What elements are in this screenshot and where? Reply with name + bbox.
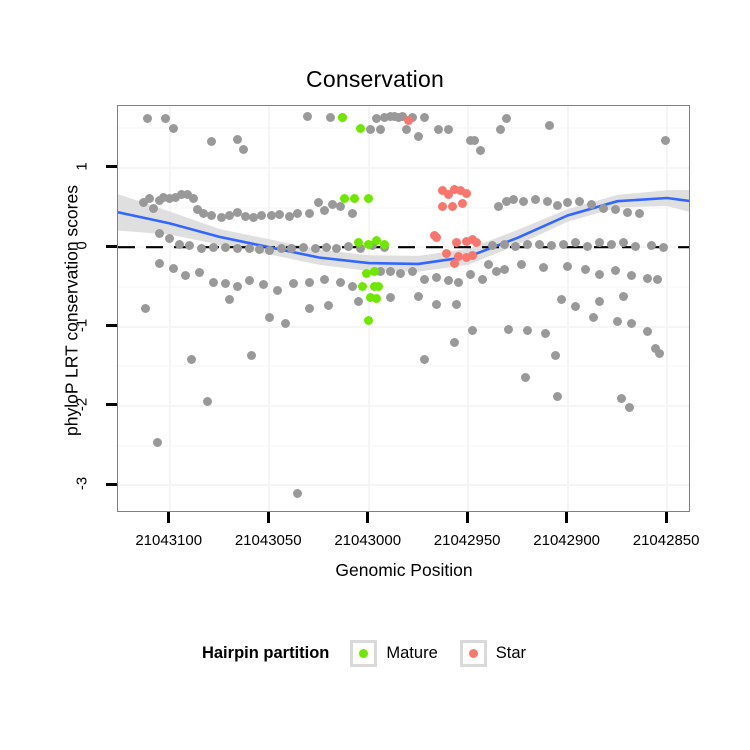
data-point-unassigned <box>175 240 184 249</box>
data-point-unassigned <box>539 263 548 272</box>
data-point-unassigned <box>488 241 497 250</box>
data-point-unassigned <box>551 351 560 360</box>
data-point-unassigned <box>277 244 286 253</box>
data-point-unassigned <box>653 275 662 284</box>
data-point-unassigned <box>434 125 443 134</box>
data-point-unassigned <box>305 278 314 287</box>
data-point-unassigned <box>221 243 230 252</box>
data-point-mature <box>374 282 383 291</box>
data-point-unassigned <box>587 200 596 209</box>
data-point-unassigned <box>643 327 652 336</box>
data-point-unassigned <box>500 265 509 274</box>
data-point-mature <box>372 294 381 303</box>
x-axis-tick <box>167 512 170 523</box>
x-axis-tick-label: 21043100 <box>114 532 224 549</box>
legend-key-mature[interactable] <box>350 640 377 667</box>
x-axis-tick <box>366 512 369 523</box>
data-point-unassigned <box>607 240 616 249</box>
data-point-unassigned <box>523 240 532 249</box>
x-axis-tick <box>466 512 469 523</box>
data-point-unassigned <box>169 124 178 133</box>
data-point-unassigned <box>611 266 620 275</box>
chart-title: Conservation <box>0 66 750 93</box>
x-axis-tick-label: 21043050 <box>213 532 323 549</box>
x-axis-tick <box>665 512 668 523</box>
chart-root: Conservation phyloP LRT conservation sco… <box>0 0 750 750</box>
data-point-unassigned <box>611 205 620 214</box>
data-point-unassigned <box>320 275 329 284</box>
data-point-unassigned <box>414 292 423 301</box>
data-point-unassigned <box>257 211 266 220</box>
data-point-unassigned <box>643 274 652 283</box>
x-axis-title: Genomic Position <box>117 560 691 581</box>
plot-area <box>118 106 689 511</box>
legend-label-mature: Mature <box>386 644 437 663</box>
data-point-unassigned <box>655 349 664 358</box>
data-point-unassigned <box>659 243 668 252</box>
data-point-unassigned <box>396 269 405 278</box>
trend-overlay <box>118 106 689 511</box>
legend-title: Hairpin partition <box>202 644 329 663</box>
y-axis-tick-label: 1 <box>74 146 91 186</box>
data-point-unassigned <box>209 243 218 252</box>
data-point-star <box>432 233 441 242</box>
data-point-star <box>448 202 457 211</box>
confidence-band <box>118 190 689 272</box>
y-axis-tick-label: -1 <box>74 305 91 345</box>
data-point-unassigned <box>452 300 461 309</box>
legend-key-star[interactable] <box>460 640 487 667</box>
data-point-unassigned <box>414 132 423 141</box>
data-point-unassigned <box>289 279 298 288</box>
data-point-unassigned <box>287 244 296 253</box>
data-point-unassigned <box>239 145 248 154</box>
data-point-unassigned <box>366 125 375 134</box>
data-point-unassigned <box>432 273 441 282</box>
data-point-unassigned <box>402 125 411 134</box>
data-point-unassigned <box>444 125 453 134</box>
data-point-unassigned <box>468 326 477 335</box>
data-point-unassigned <box>444 276 453 285</box>
data-point-unassigned <box>386 293 395 302</box>
data-point-unassigned <box>311 244 320 253</box>
data-point-unassigned <box>599 204 608 213</box>
data-point-unassigned <box>545 121 554 130</box>
data-point-unassigned <box>209 278 218 287</box>
data-point-unassigned <box>553 201 562 210</box>
data-point-unassigned <box>625 403 634 412</box>
data-point-unassigned <box>450 338 459 347</box>
data-point-star <box>452 238 461 247</box>
y-axis-tick-label: -2 <box>74 384 91 424</box>
x-axis-tick <box>267 512 270 523</box>
data-point-unassigned <box>305 304 314 313</box>
data-point-mature <box>364 194 373 203</box>
data-point-unassigned <box>478 275 487 284</box>
data-point-unassigned <box>595 297 604 306</box>
data-point-unassigned <box>470 136 479 145</box>
data-point-unassigned <box>273 286 282 295</box>
legend-dot-mature <box>359 649 368 658</box>
data-point-unassigned <box>420 275 429 284</box>
x-axis-tick-label: 21043000 <box>313 532 423 549</box>
data-point-unassigned <box>293 209 302 218</box>
data-point-mature <box>358 282 367 291</box>
data-point-unassigned <box>543 197 552 206</box>
data-point-mature <box>364 316 373 325</box>
data-point-unassigned <box>454 278 463 287</box>
x-axis-tick-label: 21042850 <box>611 532 721 549</box>
y-axis-tick <box>106 245 117 248</box>
data-point-star <box>468 251 477 260</box>
legend-label-star: Star <box>496 644 526 663</box>
data-point-unassigned <box>623 208 632 217</box>
data-point-unassigned <box>225 295 234 304</box>
data-point-unassigned <box>207 211 216 220</box>
data-point-unassigned <box>647 241 656 250</box>
data-point-unassigned <box>197 244 206 253</box>
y-axis-tick <box>106 403 117 406</box>
data-point-unassigned <box>631 242 640 251</box>
data-point-unassigned <box>275 210 284 219</box>
data-point-unassigned <box>581 265 590 274</box>
data-point-star <box>462 189 471 198</box>
x-axis-tick-label: 21042950 <box>412 532 522 549</box>
legend: Hairpin partition Mature Star <box>0 640 750 667</box>
data-point-unassigned <box>613 317 622 326</box>
data-point-star <box>404 116 413 125</box>
data-point-unassigned <box>203 397 212 406</box>
data-point-unassigned <box>299 243 308 252</box>
data-point-unassigned <box>502 114 511 123</box>
data-point-unassigned <box>583 242 592 251</box>
data-point-unassigned <box>466 270 475 279</box>
data-point-unassigned <box>595 238 604 247</box>
data-point-unassigned <box>661 136 670 145</box>
data-point-unassigned <box>245 244 254 253</box>
data-point-unassigned <box>504 325 513 334</box>
y-axis-tick-label: -3 <box>74 464 91 504</box>
data-point-unassigned <box>563 262 572 271</box>
plot-panel <box>117 105 690 512</box>
data-point-unassigned <box>189 194 198 203</box>
data-point-unassigned <box>259 280 268 289</box>
data-point-unassigned <box>627 319 636 328</box>
data-point-unassigned <box>476 146 485 155</box>
data-point-unassigned <box>305 209 314 218</box>
data-point-unassigned <box>233 135 242 144</box>
data-point-unassigned <box>255 245 264 254</box>
data-point-mature <box>356 124 365 133</box>
data-point-star <box>442 249 451 258</box>
data-point-mature <box>338 113 347 122</box>
data-point-unassigned <box>181 271 190 280</box>
x-axis-tick <box>565 512 568 523</box>
data-point-star <box>458 199 467 208</box>
legend-dot-star <box>469 649 478 658</box>
data-point-unassigned <box>293 489 302 498</box>
data-point-unassigned <box>619 238 628 247</box>
data-point-unassigned <box>575 197 584 206</box>
data-point-unassigned <box>281 319 290 328</box>
x-axis-tick-label: 21042900 <box>512 532 622 549</box>
data-point-unassigned <box>303 112 312 121</box>
data-point-unassigned <box>619 292 628 301</box>
data-point-unassigned <box>589 313 598 322</box>
data-point-star <box>438 202 447 211</box>
data-point-unassigned <box>245 276 254 285</box>
data-point-unassigned <box>595 270 604 279</box>
y-axis-tick <box>106 165 117 168</box>
data-point-unassigned <box>484 260 493 269</box>
y-axis-tick <box>106 483 117 486</box>
data-point-unassigned <box>500 240 509 249</box>
data-point-unassigned <box>265 313 274 322</box>
data-point-unassigned <box>496 125 505 134</box>
y-axis-tick-label: 0 <box>74 226 91 266</box>
data-point-unassigned <box>354 297 363 306</box>
data-point-mature <box>340 194 349 203</box>
data-point-unassigned <box>432 300 441 309</box>
data-point-unassigned <box>494 202 503 211</box>
data-point-unassigned <box>265 246 274 255</box>
y-axis-tick <box>106 324 117 327</box>
data-point-star <box>472 238 481 247</box>
